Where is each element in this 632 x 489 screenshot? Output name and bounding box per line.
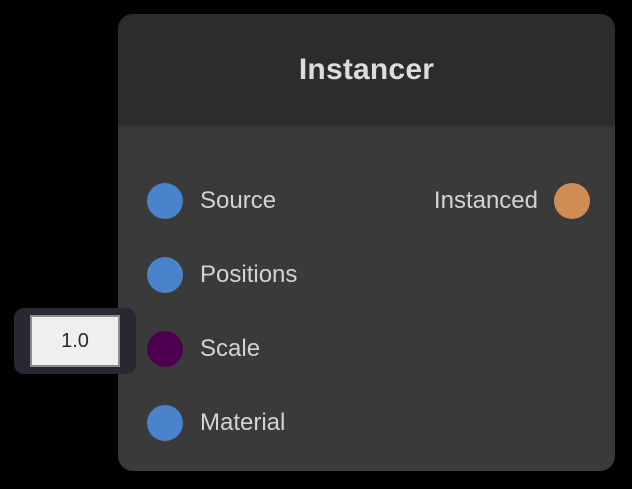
node-title: Instancer xyxy=(299,55,434,85)
node-output-label-instanced: Instanced xyxy=(434,189,538,213)
node-input-label-positions: Positions xyxy=(200,263,297,287)
node-input-label-source: Source xyxy=(200,189,276,213)
node-body: Source Positions Scale Material Instance… xyxy=(118,127,615,471)
scale-value-input[interactable]: 1.0 xyxy=(30,315,120,367)
node-instancer[interactable]: Instancer Source Positions Scale Materia… xyxy=(118,14,615,471)
node-input-row-source[interactable]: Source xyxy=(147,183,276,219)
socket-material[interactable] xyxy=(147,405,183,441)
socket-positions[interactable] xyxy=(147,257,183,293)
socket-scale[interactable] xyxy=(147,331,183,367)
socket-source[interactable] xyxy=(147,183,183,219)
node-editor-canvas[interactable]: Instancer Source Positions Scale Materia… xyxy=(0,0,632,489)
node-input-row-positions[interactable]: Positions xyxy=(147,257,297,293)
scale-value-text: 1.0 xyxy=(61,331,89,351)
socket-instanced[interactable] xyxy=(554,183,590,219)
node-input-row-material[interactable]: Material xyxy=(147,405,285,441)
node-input-label-scale: Scale xyxy=(200,337,260,361)
node-header[interactable]: Instancer xyxy=(118,14,615,125)
scale-value-widget[interactable]: 1.0 xyxy=(14,308,136,374)
node-output-row-instanced[interactable]: Instanced xyxy=(434,183,590,219)
node-input-label-material: Material xyxy=(200,411,285,435)
node-input-row-scale[interactable]: Scale xyxy=(147,331,260,367)
